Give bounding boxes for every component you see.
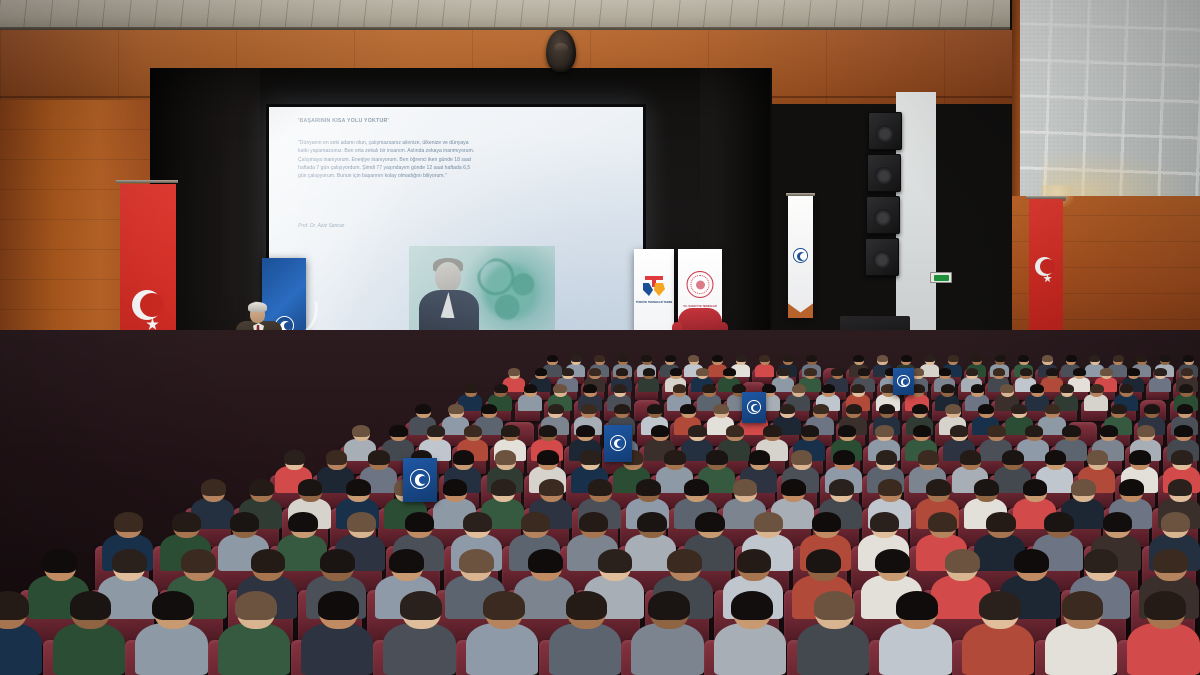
audience-member-hair: [736, 355, 747, 362]
audience-member-hair: [706, 450, 727, 465]
audience-member-hair: [535, 368, 547, 376]
audience-member-hair: [858, 368, 870, 376]
exit-sign: [930, 272, 952, 283]
audience-member-hair: [566, 591, 608, 620]
audience-member-hair: [580, 450, 601, 465]
audience-member-hair: [521, 512, 550, 532]
audience-member-hair: [1171, 450, 1192, 465]
crescent-icon: [415, 474, 426, 485]
audience-member-hair: [576, 425, 594, 437]
audience-member-hair: [614, 404, 630, 415]
audience-member-hair: [320, 549, 355, 573]
audience-member-hair: [389, 549, 424, 573]
audience-member: [51, 592, 135, 671]
audience-member-hair: [579, 512, 608, 532]
audience-member-hair: [804, 368, 816, 376]
audience-member-hair: [879, 404, 895, 415]
audience-member: [134, 592, 218, 671]
audience-member-hair: [495, 450, 516, 465]
university-crest-icon: [793, 248, 808, 263]
audience-member-hair: [562, 368, 574, 376]
audience-member-hair: [553, 384, 567, 393]
audience-member-hair: [1144, 404, 1160, 415]
audience-member-hair: [352, 425, 370, 437]
audience-member-hair: [448, 404, 464, 415]
conference-hall-photo: 'BAŞARININ KISA YOLU YOKTUR' "Dünyanın e…: [0, 0, 1200, 675]
audience-member-hair: [801, 425, 819, 437]
audience-member-hair: [759, 355, 770, 362]
audience-member-hair: [1100, 425, 1118, 437]
audience-member-body: [879, 623, 951, 675]
audience-member-hair: [547, 355, 558, 362]
audience-member-hair: [941, 384, 955, 393]
audience-member-hair: [494, 384, 508, 393]
audience-member: [795, 592, 879, 671]
audience-member-body: [1045, 623, 1117, 675]
audience-member: [216, 592, 300, 671]
audience-member-hair: [616, 368, 628, 376]
audience-member-hair: [405, 512, 434, 532]
audience-member-hair: [695, 512, 724, 532]
crescent-icon: [751, 404, 759, 412]
audience-member-hair: [1087, 450, 1108, 465]
audience-member-hair: [598, 549, 633, 573]
crescent-icon: [797, 252, 806, 261]
audience-member-hair: [400, 591, 442, 620]
projection-screen: 'BAŞARININ KISA YOLU YOKTUR' "Dünyanın e…: [269, 107, 643, 349]
audience-member-body: [1149, 377, 1171, 391]
audience-member-hair: [781, 479, 806, 496]
university-crest-banner-1: [403, 458, 437, 502]
audience-member-hair: [112, 549, 147, 573]
university-crest-icon: [897, 375, 909, 387]
university-crest-icon: [747, 400, 761, 414]
audience-member-hair: [993, 368, 1005, 376]
speaker-cone-icon: [873, 251, 891, 269]
audience-member-hair: [723, 368, 735, 376]
audience-member-hair: [665, 355, 676, 362]
audience-member-hair: [643, 368, 655, 376]
audience-member-hair: [1119, 479, 1144, 496]
audience-member-hair: [667, 549, 702, 573]
audience-member-hair: [1153, 549, 1188, 573]
flag-rod-left: [116, 180, 178, 183]
audience-member-hair: [1025, 425, 1043, 437]
audience-area: [0, 330, 1200, 675]
audience-member-hair: [945, 404, 961, 415]
audience-member-hair: [1183, 355, 1194, 362]
acoustic-panel-wall: [1012, 0, 1200, 205]
audience-member-hair: [235, 591, 277, 620]
audience-member-hair: [1018, 355, 1029, 362]
audience-member-hair: [680, 404, 696, 415]
audience-member-hair: [528, 549, 563, 573]
university-crest-banner-4: [893, 368, 914, 395]
t3-logo-icon: [641, 275, 667, 297]
speaker-wall-column: [896, 92, 936, 342]
audience-member-hair: [501, 425, 519, 437]
audience-member-hair: [583, 384, 597, 393]
audience-member-hair: [453, 450, 474, 465]
audience-member-hair: [1174, 425, 1192, 437]
audience-member-hair: [443, 479, 468, 496]
audience-member-hair: [636, 479, 661, 496]
audience-member-hair: [791, 450, 812, 465]
crescent-icon: [1035, 257, 1054, 276]
audience-member-hair: [702, 384, 716, 393]
audience-member-body: [518, 394, 542, 411]
audience-member-hair: [688, 425, 706, 437]
audience-member-body: [53, 623, 125, 675]
audience-member-hair: [813, 404, 829, 415]
audience-member-hair: [459, 549, 494, 573]
audience-member-hair: [875, 549, 910, 573]
audience-member-hair: [1127, 368, 1139, 376]
audience-member-hair: [829, 479, 854, 496]
audience-member-hair: [971, 355, 982, 362]
audience-member-hair: [987, 425, 1005, 437]
audience-member-hair: [288, 512, 317, 532]
audience-member-hair: [647, 404, 663, 415]
audience-member-hair: [1160, 355, 1171, 362]
audience-member-hair: [1089, 355, 1100, 362]
audience-member: [464, 592, 548, 671]
audience-member-hair: [831, 368, 843, 376]
audience-member-hair: [806, 355, 817, 362]
audience-member-body: [0, 623, 42, 675]
audience-member-hair: [780, 404, 796, 415]
audience-member-hair: [230, 512, 259, 532]
audience-member-hair: [326, 450, 347, 465]
audience-member-hair: [589, 368, 601, 376]
audience-member-hair: [726, 425, 744, 437]
audience-member-hair: [347, 512, 376, 532]
audience-member-hair: [812, 512, 841, 532]
audience-member-hair: [491, 479, 516, 496]
audience-member-hair: [995, 355, 1006, 362]
speaker-cabinet: [865, 238, 899, 276]
audience-member-hair: [1090, 384, 1104, 393]
audience-member-hair: [1129, 450, 1150, 465]
audience-member-hair: [878, 479, 903, 496]
audience-member: [0, 592, 52, 671]
audience-member-hair: [1062, 591, 1104, 620]
audience-member-hair: [1045, 450, 1066, 465]
portrait-head: [435, 262, 461, 292]
audience-member: [1043, 592, 1127, 671]
speaker-cabinet: [868, 112, 902, 150]
audience-member-hair: [1144, 591, 1186, 620]
university-crest-banner-2: [604, 425, 632, 462]
audience-member-hair: [838, 425, 856, 437]
audience-member-hair: [737, 549, 772, 573]
speaker-cone-icon: [875, 167, 893, 185]
audience-member-hair: [806, 549, 841, 573]
audience-member: [712, 592, 796, 671]
audience-member: [1149, 369, 1174, 391]
audience-member-hair: [249, 479, 274, 496]
audience-member-hair: [284, 450, 305, 465]
audience-member-hair: [877, 355, 888, 362]
audience-member-hair: [152, 591, 194, 620]
audience-member-hair: [427, 425, 445, 437]
audience-member-hair: [613, 384, 627, 393]
audience-member-hair: [368, 450, 389, 465]
ataturk-relief-icon: [546, 30, 576, 72]
audience-member-hair: [833, 450, 854, 465]
audience-member-hair: [251, 549, 286, 573]
audience-member-hair: [641, 355, 652, 362]
audience-member-hair: [464, 425, 482, 437]
audience-member-hair: [763, 425, 781, 437]
audience-member-hair: [1002, 450, 1023, 465]
audience-member-hair: [1045, 404, 1061, 415]
audience-member-body: [631, 623, 703, 675]
audience-member-hair: [508, 368, 520, 376]
audience-member-hair: [1030, 384, 1044, 393]
presenter-hair: [248, 302, 267, 312]
audience-member-body: [714, 623, 786, 675]
audience-member-hair: [950, 425, 968, 437]
audience-member-hair: [1073, 368, 1085, 376]
audience-member-body: [135, 623, 207, 675]
audience-member-hair: [670, 368, 682, 376]
audience-member-hair: [298, 479, 323, 496]
audience-member-hair: [1179, 384, 1193, 393]
ceiling-ribs: [0, 0, 1010, 30]
audience-member-hair: [618, 355, 629, 362]
audience-member-hair: [537, 450, 558, 465]
audience-member-hair: [749, 450, 770, 465]
audience-member-body: [797, 623, 869, 675]
speaker-cabinet: [866, 196, 900, 234]
audience-member-hair: [733, 479, 758, 496]
audience-member-hair: [1014, 549, 1049, 573]
audience-member-hair: [594, 355, 605, 362]
audience-member-hair: [524, 384, 538, 393]
audience-member-hair: [1066, 355, 1077, 362]
audience-member-hair: [389, 425, 407, 437]
audience-member-hair: [1111, 404, 1127, 415]
slide-photo: [409, 246, 555, 338]
crescent-icon: [614, 439, 623, 448]
audience-member-hair: [1062, 425, 1080, 437]
audience-member-hair: [688, 355, 699, 362]
crescent-icon: [901, 378, 908, 385]
audience-member-hair: [1042, 355, 1053, 362]
audience-member-hair: [945, 549, 980, 573]
audience-member-body: [218, 623, 290, 675]
audience-member-hair: [870, 512, 899, 532]
audience-member-hair: [713, 404, 729, 415]
audience-member-hair: [1177, 404, 1193, 415]
audience-member-hair: [913, 425, 931, 437]
speaker-cone-icon: [876, 125, 894, 143]
audience-member-hair: [939, 368, 951, 376]
audience-member-hair: [673, 384, 687, 393]
audience-member-hair: [777, 368, 789, 376]
molecule-graphic-icon: [473, 254, 549, 330]
audience-member-hair: [966, 368, 978, 376]
audience-member-hair: [853, 355, 864, 362]
audience-member-hair: [318, 591, 360, 620]
audience-member-hair: [1181, 368, 1193, 376]
audience-member-hair: [181, 549, 216, 573]
audience-member-hair: [875, 425, 893, 437]
audience-member-hair: [918, 450, 939, 465]
audience-member-hair: [851, 384, 865, 393]
audience-member-body: [1127, 623, 1199, 675]
audience-member-hair: [814, 591, 856, 620]
audience-member-hair: [971, 384, 985, 393]
audience-member-hair: [876, 450, 897, 465]
audience-member-hair: [464, 384, 478, 393]
audience-member-hair: [1084, 549, 1119, 573]
audience-member-hair: [1011, 404, 1027, 415]
t3-standee-text: TÜRKİYE TEKNOLOJİ TAKIMI: [634, 301, 674, 304]
ceiling-panels: [0, 0, 1010, 30]
audience-member: [547, 592, 631, 671]
audience-member-hair: [172, 512, 201, 532]
audience-member-hair: [1020, 368, 1032, 376]
audience-member: [637, 369, 662, 391]
audience-member-hair: [1000, 384, 1014, 393]
audience-member-hair: [684, 479, 709, 496]
audience-member-hair: [539, 425, 557, 437]
audience-member-hair: [1044, 512, 1073, 532]
audience-member-body: [383, 623, 455, 675]
loudspeaker-stack: [866, 112, 902, 282]
audience-member-hair: [0, 591, 29, 620]
audience-member-hair: [901, 355, 912, 362]
audience-member-hair: [588, 479, 613, 496]
audience-member-hair: [548, 404, 564, 415]
slide-title: 'BAŞARININ KISA YOLU YOKTUR': [298, 118, 389, 124]
university-white-banner: [788, 196, 813, 318]
speaker-cone-icon: [874, 209, 892, 227]
audience-member-hair: [637, 512, 666, 532]
audience-member-hair: [648, 591, 690, 620]
audience-member-hair: [986, 512, 1015, 532]
audience-member-hair: [928, 512, 957, 532]
audience-member-hair: [346, 479, 371, 496]
audience-member-hair: [1168, 479, 1193, 496]
crescent-icon: [132, 290, 162, 320]
speaker-cabinet: [867, 154, 901, 192]
university-crest-banner-3: [742, 392, 766, 423]
audience-member: [878, 592, 962, 671]
audience-member: [960, 592, 1044, 671]
audience-member-hair: [1060, 384, 1074, 393]
audience-member-body: [549, 623, 621, 675]
audience-member-hair: [1100, 368, 1112, 376]
audience-member-hair: [1023, 479, 1048, 496]
audience-member-hair: [948, 355, 959, 362]
audience-member-hair: [1137, 425, 1155, 437]
audience-member-hair: [483, 591, 525, 620]
audience-member-hair: [1154, 368, 1166, 376]
audience-member-hair: [712, 355, 723, 362]
audience-member-body: [466, 623, 538, 675]
audience-member: [299, 592, 383, 671]
audience-member-hair: [1103, 512, 1132, 532]
acoustic-wall-trim: [1012, 0, 1020, 205]
audience-member-hair: [651, 425, 669, 437]
audience-member-hair: [114, 512, 143, 532]
audience-member-hair: [924, 355, 935, 362]
university-crest-icon: [610, 435, 626, 451]
audience-member-body: [301, 623, 373, 675]
audience-member-body: [638, 377, 660, 391]
audience-member-hair: [42, 549, 77, 573]
audience-member-hair: [571, 355, 582, 362]
audience-member-hair: [896, 591, 938, 620]
audience-member: [382, 592, 466, 671]
audience-member: [1126, 592, 1200, 671]
audience-member-hair: [822, 384, 836, 393]
slide-attribution: Prof. Dr. Aziz Sancar: [298, 223, 344, 229]
audience-member-hair: [783, 355, 794, 362]
audience-member-hair: [846, 404, 862, 415]
audience-member-hair: [979, 591, 1021, 620]
audience-member-hair: [1113, 355, 1124, 362]
audience-member-hair: [754, 512, 783, 532]
audience-member-hair: [539, 479, 564, 496]
audience-member-hair: [1161, 512, 1190, 532]
audience-member-body: [962, 623, 1034, 675]
turkish-republic-seal-icon: [687, 271, 714, 298]
audience-member-hair: [792, 384, 806, 393]
audience-member-hair: [1071, 479, 1096, 496]
audience-member-hair: [1120, 384, 1134, 393]
audience-member-hair: [581, 404, 597, 415]
university-crest-icon: [410, 469, 430, 489]
audience-member-hair: [731, 591, 773, 620]
audience-member-hair: [481, 404, 497, 415]
audience-member-hair: [978, 404, 994, 415]
audience-member-hair: [70, 591, 112, 620]
audience-member-hair: [201, 479, 226, 496]
audience-member-hair: [974, 479, 999, 496]
audience-member-hair: [664, 450, 685, 465]
audience-member-hair: [1046, 368, 1058, 376]
audience-member-hair: [1136, 355, 1147, 362]
audience-member-hair: [912, 404, 928, 415]
audience-member-hair: [463, 512, 492, 532]
audience-member-hair: [960, 450, 981, 465]
audience-member-hair: [696, 368, 708, 376]
slide-body-text: "Dünyanın en zeki adamı olun, çalışmazsa…: [298, 139, 478, 180]
exit-icon: [934, 275, 949, 281]
audience-member-hair: [926, 479, 951, 496]
audience-member-hair: [415, 404, 431, 415]
audience-member: [630, 592, 714, 671]
